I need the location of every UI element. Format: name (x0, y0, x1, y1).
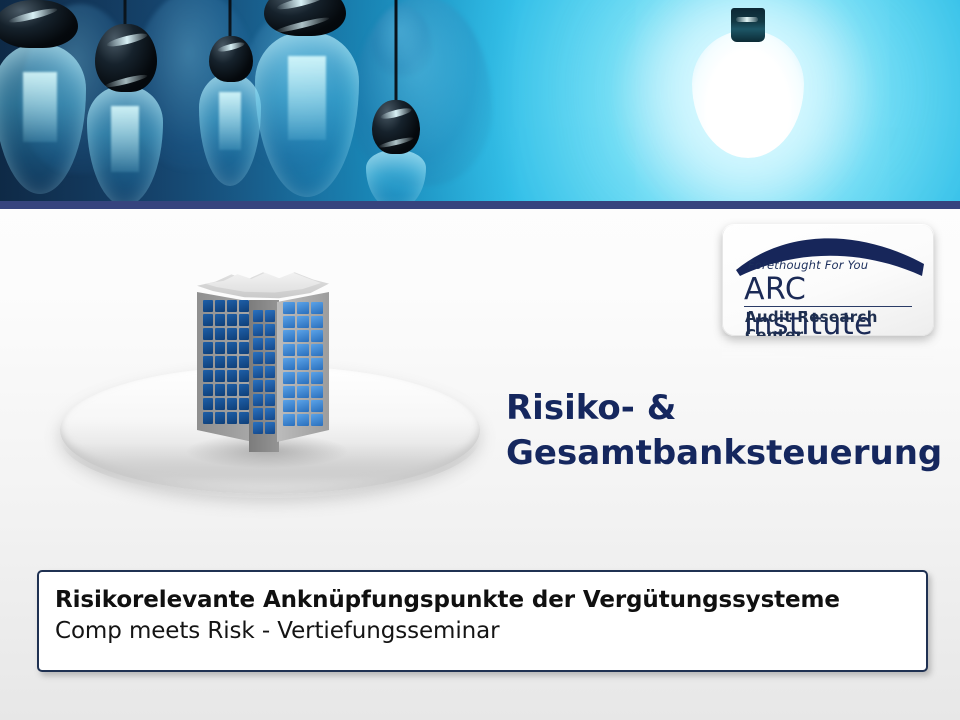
logo-tagline: Forethought For You (748, 258, 868, 272)
slide-title-line-1: Risiko- & (506, 386, 936, 431)
building-tower (197, 266, 329, 456)
header-accent-bar (0, 201, 960, 209)
subtitle-box: Risikorelevante Anknüpfungspunkte der Ve… (37, 570, 928, 672)
hanging-bulb-icon (88, 0, 162, 200)
slide-title: Risiko- & Gesamtbanksteuerung (506, 386, 936, 476)
subtitle-primary: Risikorelevante Anknüpfungspunkte der Ve… (55, 586, 926, 615)
logo-reflection: Audit Research Center (722, 336, 934, 370)
hanging-bulb-icon (204, 0, 256, 196)
arc-institute-logo: Forethought For You ARC Institute Audit … (722, 224, 934, 336)
hanging-bulb-icon (368, 0, 424, 200)
logo-subtitle: Audit Research Center (745, 308, 934, 336)
presentation-slide: Forethought For You ARC Institute Audit … (0, 0, 960, 720)
logo-divider (744, 306, 912, 307)
light-bulbs-header-image (0, 0, 960, 201)
subtitle-secondary: Comp meets Risk - Vertiefungsseminar (55, 617, 926, 647)
glowing-bulb-icon (692, 8, 804, 158)
hanging-bulb-icon (262, 0, 352, 201)
logo-reflection-plate: Audit Research Center (722, 336, 934, 370)
office-building-3d-illustration (45, 248, 485, 508)
hanging-bulb-icon (0, 0, 86, 198)
slide-title-line-2: Gesamtbanksteuerung (506, 431, 936, 476)
